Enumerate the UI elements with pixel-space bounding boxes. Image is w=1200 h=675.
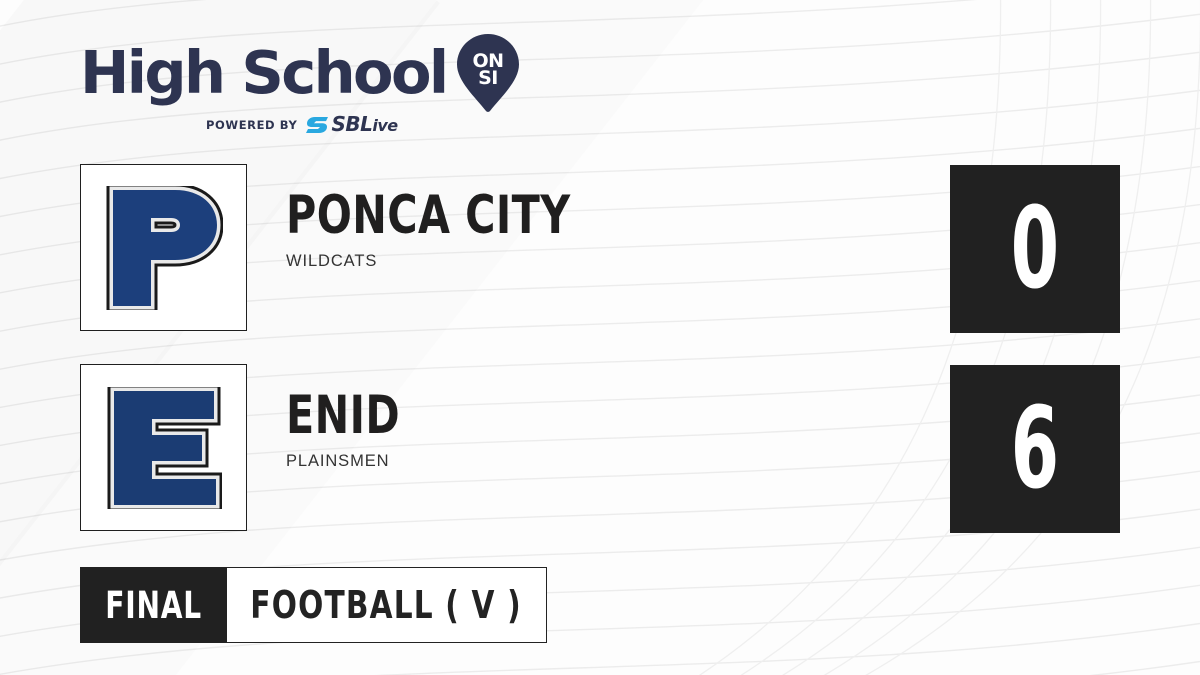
team-text-block-away: ENID PLAINSMEN xyxy=(286,388,886,471)
sblive-s-icon xyxy=(306,115,330,135)
brand-wordmark: High School xyxy=(80,42,447,104)
scoreboard-graphic: High School ON SI POWERED BY SBLive xyxy=(0,0,1200,675)
onsi-pin-icon: ON SI xyxy=(457,34,519,112)
score-value-away: 6 xyxy=(1011,393,1059,505)
game-status-label: FINAL xyxy=(105,587,202,624)
sblive-logo: SBLive xyxy=(306,114,397,136)
sblive-wordmark-main: SBL xyxy=(331,112,372,136)
team-mascot-home: WILDCATS xyxy=(286,252,886,271)
score-box-away: 6 xyxy=(950,365,1120,533)
sblive-wordmark-suffix: ive xyxy=(372,116,397,135)
team-logo-card-ponca-city xyxy=(80,164,247,331)
sport-label-panel: FOOTBALL ( V ) xyxy=(227,567,547,643)
status-bar: FINAL FOOTBALL ( V ) xyxy=(80,567,547,643)
team-row-home: PONCA CITY WILDCATS 0 xyxy=(80,164,1120,334)
sport-label: FOOTBALL ( V ) xyxy=(251,586,523,624)
powered-by-row: POWERED BY SBLive xyxy=(206,116,510,134)
ponca-city-p-logo-icon xyxy=(105,186,223,310)
score-value-home: 0 xyxy=(1011,193,1059,305)
brand-header: High School ON SI POWERED BY SBLive xyxy=(80,34,510,134)
team-name-home: PONCA CITY xyxy=(286,188,754,243)
team-text-block-home: PONCA CITY WILDCATS xyxy=(286,188,886,271)
team-name-away: ENID xyxy=(286,388,754,443)
svg-text:SI: SI xyxy=(478,67,498,89)
sblive-wordmark: SBLive xyxy=(331,114,397,136)
team-mascot-away: PLAINSMEN xyxy=(286,452,886,471)
brand-wordmark-row: High School ON SI xyxy=(80,34,510,112)
powered-by-label: POWERED BY xyxy=(206,118,297,132)
team-logo-card-enid xyxy=(80,364,247,531)
team-row-away: ENID PLAINSMEN 6 xyxy=(80,364,1120,534)
enid-e-logo-icon xyxy=(106,387,222,509)
game-status-badge: FINAL xyxy=(80,567,227,643)
score-box-home: 0 xyxy=(950,165,1120,333)
